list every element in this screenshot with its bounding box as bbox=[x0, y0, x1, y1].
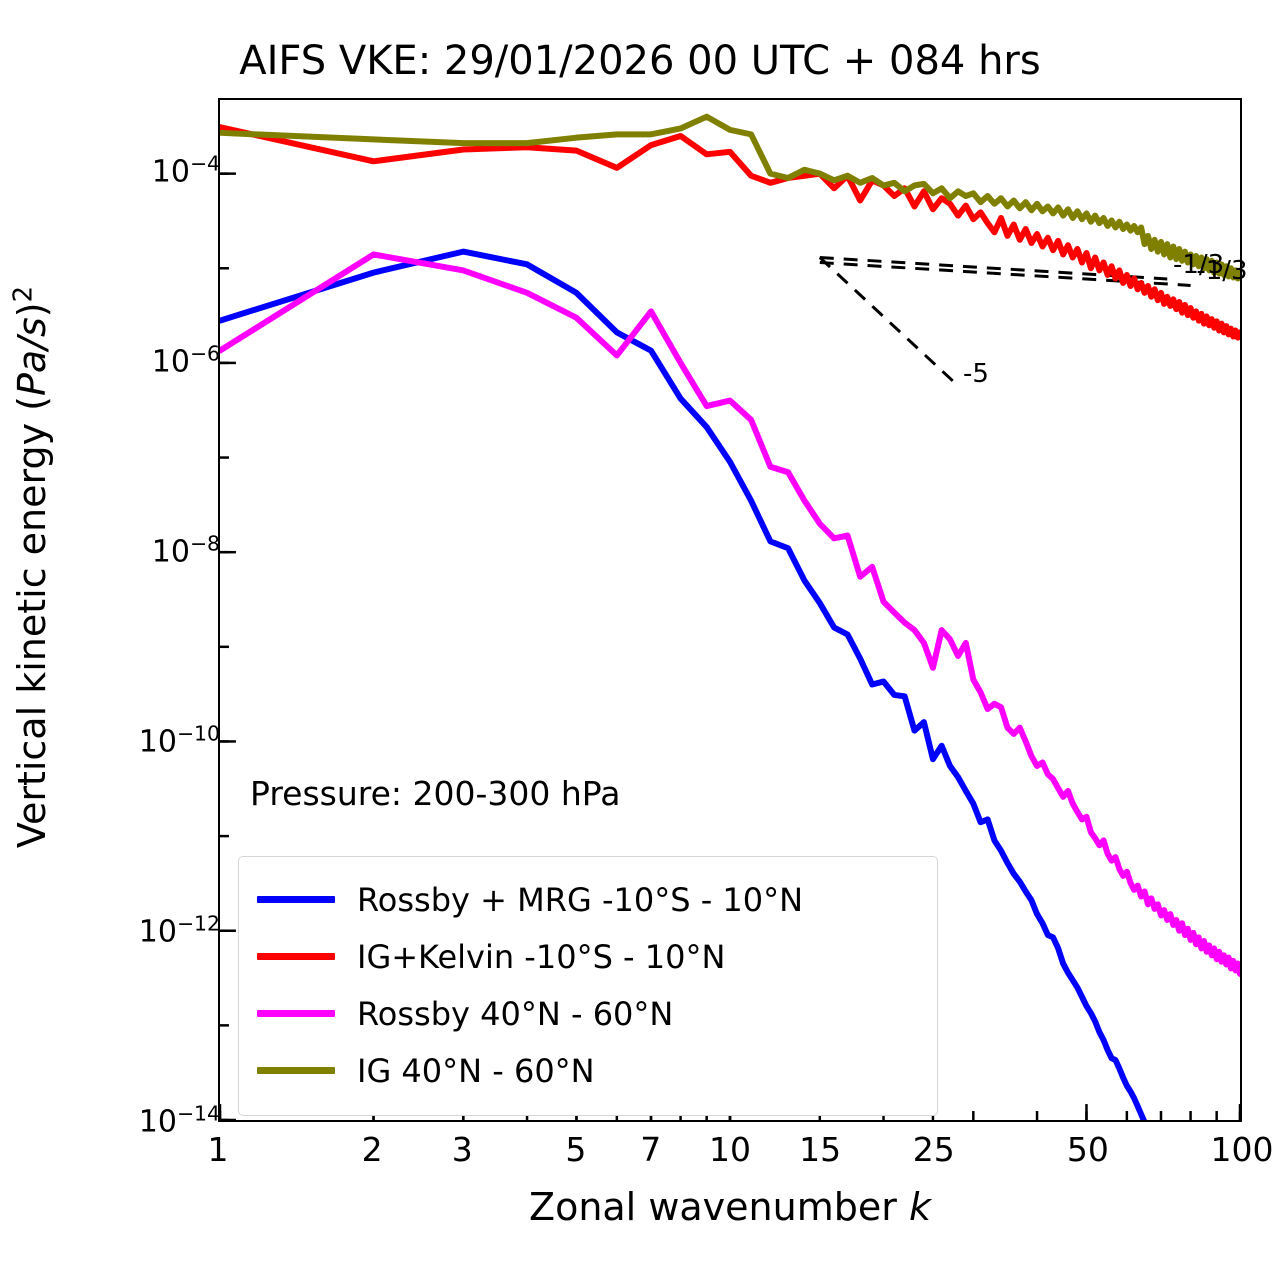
legend-color-swatch bbox=[257, 1067, 335, 1074]
x-tick-label: 25 bbox=[889, 1130, 979, 1169]
legend-color-swatch bbox=[257, 953, 335, 960]
figure-canvas: AIFS VKE: 29/01/2026 00 UTC + 084 hrs Ve… bbox=[0, 0, 1280, 1288]
x-axis-label-symbol: k bbox=[909, 1185, 931, 1229]
slope-label-minus-five: -5 bbox=[963, 359, 989, 389]
legend-item-label: IG+Kelvin -10°S - 10°N bbox=[357, 938, 725, 976]
x-axis-label: Zonal wavenumber k bbox=[218, 1185, 1242, 1229]
y-tick-label: 10−12 bbox=[20, 914, 220, 949]
legend-color-swatch bbox=[257, 1010, 335, 1017]
legend-item-label: Rossby + MRG -10°S - 10°N bbox=[357, 881, 803, 919]
x-tick-label: 15 bbox=[775, 1130, 865, 1169]
chart-title: AIFS VKE: 29/01/2026 00 UTC + 084 hrs bbox=[0, 38, 1280, 84]
legend-color-swatch bbox=[257, 896, 335, 903]
legend-item-label: Rossby 40°N - 60°N bbox=[357, 995, 673, 1033]
legend-item-label: IG 40°N - 60°N bbox=[357, 1052, 595, 1090]
x-tick-label: 1 bbox=[173, 1130, 263, 1169]
y-tick-label: 10−6 bbox=[20, 344, 220, 379]
legend-item-2[interactable]: Rossby 40°N - 60°N bbox=[257, 985, 919, 1042]
slope-label-lower-third: -1/3 bbox=[1196, 256, 1247, 286]
x-tick-label: 7 bbox=[606, 1130, 696, 1169]
legend-item-0[interactable]: Rossby + MRG -10°S - 10°N bbox=[257, 871, 919, 928]
y-axis-label-text: Vertical kinetic energy ( bbox=[10, 396, 54, 848]
y-axis-label-exponent: 2 bbox=[8, 286, 38, 302]
legend-item-3[interactable]: IG 40°N - 60°N bbox=[257, 1042, 919, 1099]
pressure-annotation: Pressure: 200-300 hPa bbox=[250, 774, 620, 813]
y-axis-label-paren: ) bbox=[10, 302, 54, 317]
series-line-1 bbox=[220, 127, 1240, 337]
x-tick-label: 3 bbox=[417, 1130, 507, 1169]
x-tick-label: 100 bbox=[1197, 1130, 1280, 1169]
y-tick-label: 10−10 bbox=[20, 724, 220, 759]
reference-line-2 bbox=[820, 257, 958, 385]
y-tick-label: 10−4 bbox=[20, 154, 220, 189]
y-tick-label: 10−8 bbox=[20, 534, 220, 569]
legend[interactable]: Rossby + MRG -10°S - 10°NIG+Kelvin -10°S… bbox=[238, 856, 938, 1116]
x-tick-label: 2 bbox=[327, 1130, 417, 1169]
x-tick-label: 50 bbox=[1043, 1130, 1133, 1169]
legend-item-1[interactable]: IG+Kelvin -10°S - 10°N bbox=[257, 928, 919, 985]
x-tick-label: 10 bbox=[685, 1130, 775, 1169]
x-axis-label-text: Zonal wavenumber bbox=[529, 1185, 909, 1229]
